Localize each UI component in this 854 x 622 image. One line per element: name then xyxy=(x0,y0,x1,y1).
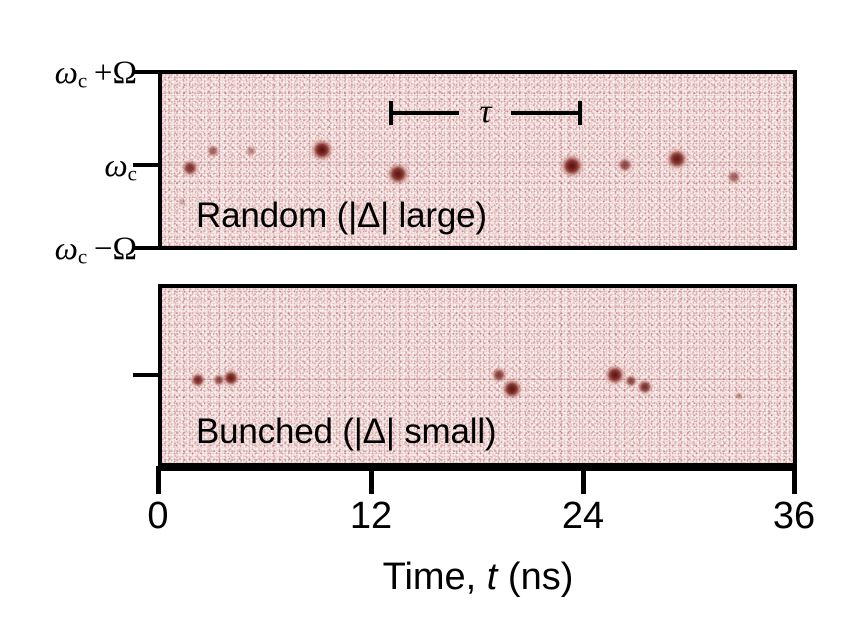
photon-spot xyxy=(490,366,508,384)
y-tick-label-wc-minus-omega: ωc −Ω xyxy=(55,231,137,270)
y-tick-label-wc-plus-omega: ωc +Ω xyxy=(55,55,137,94)
x-axis-title-prefix: Time, xyxy=(383,556,487,598)
top-panel-caption: Random (|Δ| large) xyxy=(196,196,487,236)
photon-spot xyxy=(664,146,689,171)
x-tick-mark-24 xyxy=(581,466,586,494)
photon-spot xyxy=(734,391,744,401)
photon-spot xyxy=(244,144,257,157)
tau-bar-segment-right xyxy=(511,111,582,115)
bottom-panel-scanline xyxy=(162,379,793,380)
photon-spot xyxy=(309,137,335,163)
y-tick-label-wc: ωc xyxy=(104,148,137,187)
photon-spot xyxy=(206,143,221,158)
photon-spot xyxy=(636,378,654,396)
bottom-panel-caption: Bunched (|Δ| small) xyxy=(196,412,496,452)
photon-spot xyxy=(559,153,586,180)
x-tick-label-0: 0 xyxy=(147,495,168,538)
y-tick-mark-top-upper xyxy=(133,70,160,74)
x-axis-title-variable: t xyxy=(487,556,498,598)
x-tick-label-12: 12 xyxy=(350,495,392,538)
y-tick-mark-top-middle xyxy=(133,163,160,167)
y-tick-mark-bottom-middle xyxy=(133,373,160,377)
x-axis-line xyxy=(158,466,797,471)
x-tick-mark-36 xyxy=(792,466,797,494)
tau-bar-cap-right xyxy=(578,101,582,125)
photon-spot xyxy=(385,161,411,187)
x-axis-title: Time, t (ns) xyxy=(383,556,574,599)
x-tick-label-24: 24 xyxy=(562,495,604,538)
tau-bar-segment-left xyxy=(389,111,460,115)
photon-spot xyxy=(725,168,742,185)
tau-symbol-label: τ xyxy=(479,93,491,131)
photon-spot xyxy=(616,156,634,174)
y-tick-mark-top-lower xyxy=(133,246,160,250)
tau-bar-cap-left xyxy=(389,101,393,125)
x-tick-mark-0 xyxy=(156,466,161,494)
x-tick-label-36: 36 xyxy=(773,495,815,538)
x-axis-title-suffix: (ns) xyxy=(497,556,573,598)
x-tick-mark-12 xyxy=(369,466,374,494)
spectrogram-figure: Random (|Δ| large) τ Bunched (|Δ| small)… xyxy=(0,0,854,622)
photon-spot xyxy=(177,197,187,207)
top-panel-scanline xyxy=(162,162,793,163)
photon-spot xyxy=(189,371,207,389)
photon-spot xyxy=(221,368,241,388)
photon-spot xyxy=(180,158,200,178)
